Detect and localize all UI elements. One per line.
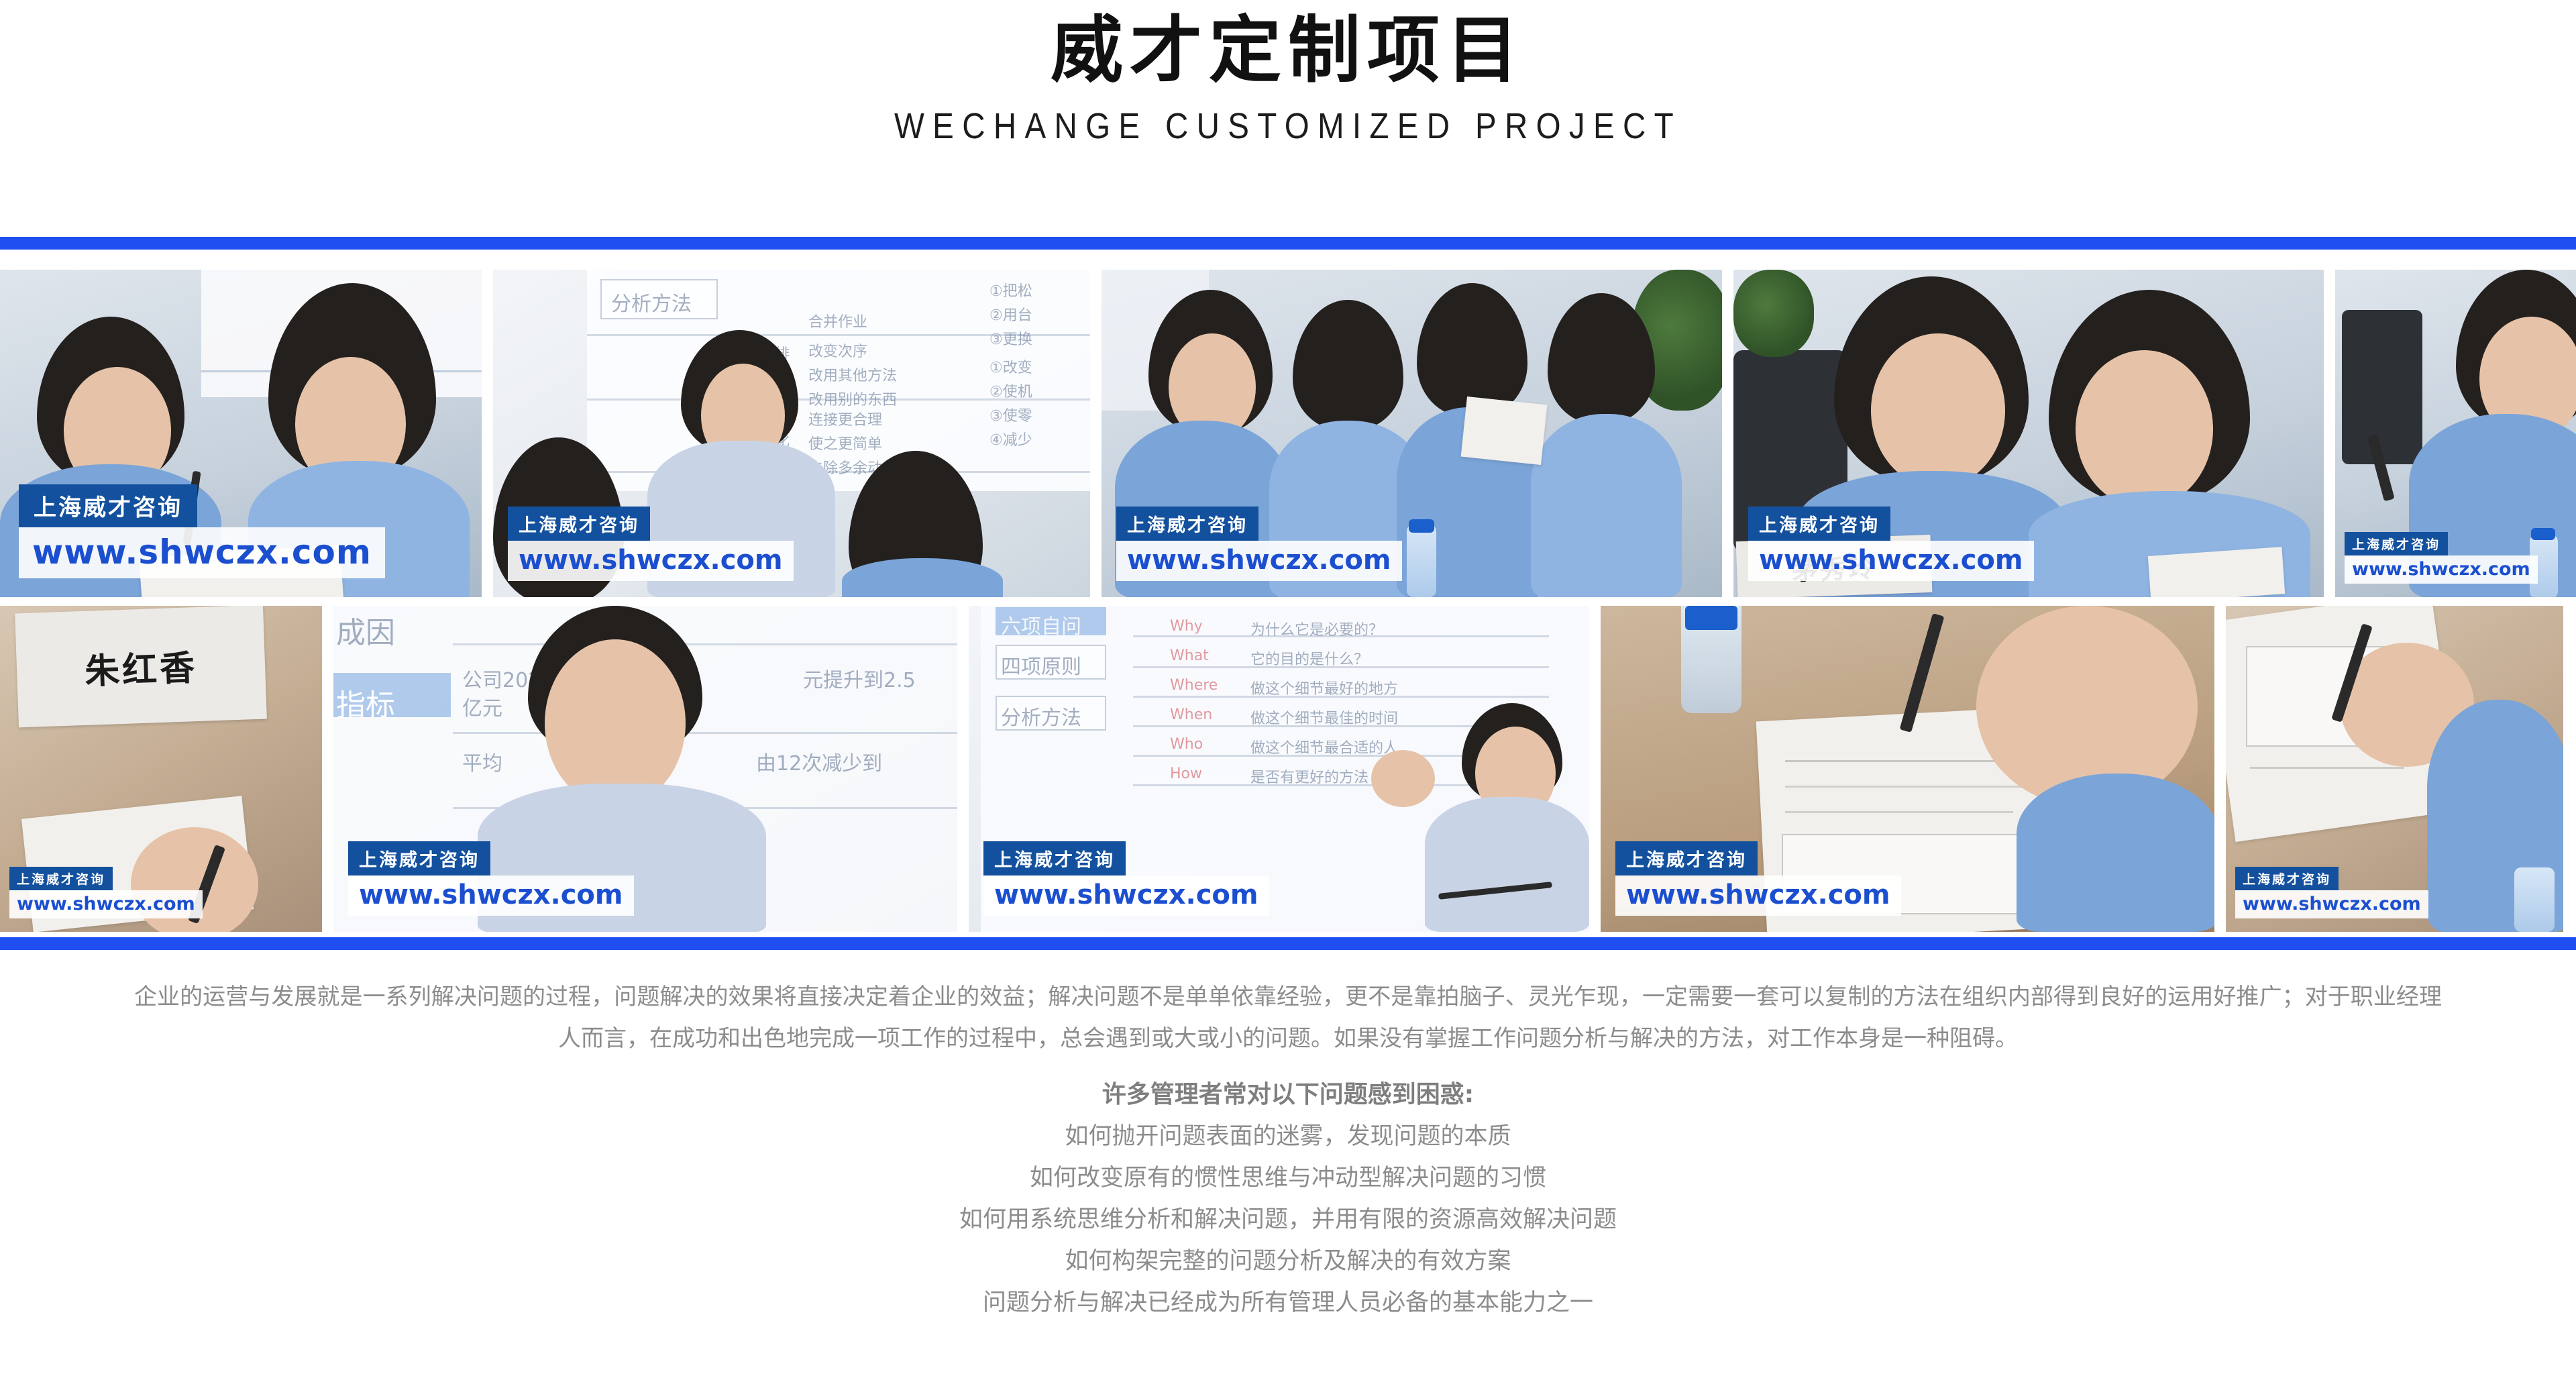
question-line-5: 问题分析与解决已经成为所有管理人员必备的基本能力之一 (0, 1282, 2576, 1324)
watermark-url: www.shwczx.com (2345, 555, 2538, 584)
gallery-photo-r2c3[interactable]: 六项自问 四项原则 分析方法 Why 为什么它是必要的？ What 它的目的是什… (969, 606, 1589, 932)
lead-line: 许多管理者常对以下问题感到困惑: (0, 1074, 2576, 1116)
gallery-photo-r1c4[interactable]: 茅秀玲 上海威才咨询 www.shwczx.com (1733, 270, 2324, 597)
slide-label-kpi-cause: 成因 (336, 608, 395, 651)
slide-5w1h-q-4: 做这个细节最佳的时间 (1250, 706, 1398, 728)
question-line-1: 如何抛开问题表面的迷雾，发现问题的本质 (0, 1116, 2576, 1157)
slide-detail-2b: 使之更简单 (808, 432, 882, 454)
slide-label-kpi-index: 指标 (336, 681, 395, 724)
watermark-r1c3: 上海威才咨询 www.shwczx.com (1116, 507, 1402, 581)
gallery-photo-r2c1[interactable]: 朱红香 上海威才咨询 www.shwczx.com (0, 606, 322, 932)
slide-item-1a: ①把松 (989, 279, 1032, 301)
gallery-photo-r1c2[interactable]: 分析方法 重排 合并作业 改变次序 改用其他方法 改用别的东西 简化 连接更合理… (493, 270, 1090, 597)
watermark-tag: 上海威才咨询 (1615, 841, 1758, 875)
divider-top (0, 237, 2576, 250)
watermark-url: www.shwczx.com (2235, 890, 2428, 918)
slide-5w1h-key-2: What (1170, 647, 1209, 664)
slide-5w1h-q-5: 做这个细节最合适的人 (1250, 736, 1398, 757)
watermark-r2c4: 上海威才咨询 www.shwczx.com (1615, 841, 1901, 916)
gallery-photo-r1c5[interactable]: 上海威才咨询 www.shwczx.com (2335, 270, 2576, 597)
watermark-tag: 上海威才咨询 (1748, 507, 1890, 541)
slide-item-2d: ④减少 (989, 428, 1032, 449)
watermark-r1c1: 上海威才咨询 www.shwczx.com (19, 484, 385, 578)
slide-item-2c: ③使零 (989, 404, 1032, 425)
poster-page: 威才定制项目 WECHANGE CUSTOMIZED PROJECT 上海威才咨… (0, 0, 2576, 1380)
slide-label-six-questions: 六项自问 (1001, 610, 1081, 639)
slide-item-2a: ①改变 (989, 356, 1032, 377)
slide-label-analysis-method: 分析方法 (611, 287, 692, 317)
watermark-url: www.shwczx.com (983, 875, 1269, 916)
page-title: 威才定制项目 (0, 12, 2576, 91)
slide-5w1h-q-1: 为什么它是必要的？ (1250, 618, 1383, 639)
gallery-photo-r1c1[interactable]: 上海威才咨询 www.shwczx.com (0, 270, 482, 597)
slide-5w1h-key-3: Where (1170, 677, 1218, 694)
intro-paragraph: 企业的运营与发展就是一系列解决问题的过程，问题解决的效果将直接决定着企业的效益；… (67, 976, 2509, 1059)
watermark-tag: 上海威才咨询 (9, 867, 113, 890)
gallery-photo-r2c5[interactable]: 上海威才咨询 www.shwczx.com (2226, 606, 2563, 932)
watermark-tag: 上海威才咨询 (19, 484, 197, 527)
slide-item-1b: ②用台 (989, 303, 1032, 325)
watermark-tag: 上海威才咨询 (1116, 507, 1258, 541)
slide-kpi-row-4: 平均 (462, 747, 502, 776)
watermark-r2c1: 上海威才咨询 www.shwczx.com (9, 867, 203, 918)
watermark-r2c5: 上海威才咨询 www.shwczx.com (2235, 867, 2428, 918)
watermark-url: www.shwczx.com (19, 527, 385, 578)
gallery-photo-r2c4[interactable]: 上海威才咨询 www.shwczx.com (1601, 606, 2214, 932)
watermark-r1c2: 上海威才咨询 www.shwczx.com (508, 507, 794, 581)
watermark-r2c3: 上海威才咨询 www.shwczx.com (983, 841, 1269, 916)
slide-detail-1b: 改用其他方法 (808, 364, 897, 385)
body-copy: 企业的运营与发展就是一系列解决问题的过程，问题解决的效果将直接决定着企业的效益；… (0, 976, 2576, 1324)
slide-detail-2a: 连接更合理 (808, 408, 882, 429)
question-line-4: 如何构架完整的问题分析及解决的有效方案 (0, 1240, 2576, 1282)
gallery-photo-r1c3[interactable]: 上海威才咨询 www.shwczx.com (1102, 270, 1722, 597)
slide-kpi-row-2: 亿元 (462, 692, 502, 721)
slide-item-2b: ②使机 (989, 380, 1032, 401)
watermark-tag: 上海威才咨询 (2235, 867, 2339, 890)
slide-label-four-principles: 四项原则 (1001, 650, 1081, 680)
page-subtitle: WECHANGE CUSTOMIZED PROJECT (154, 105, 2421, 147)
slide-5w1h-key-1: Why (1170, 618, 1203, 635)
namecard-name: 朱红香 (84, 639, 199, 694)
watermark-r1c4: 上海威才咨询 www.shwczx.com (1748, 507, 2034, 581)
watermark-tag: 上海威才咨询 (983, 841, 1126, 875)
slide-item-1c: ③更换 (989, 327, 1032, 349)
slide-kpi-row-3: 元提升到2.5 (803, 664, 916, 693)
gallery-photo-r2c2[interactable]: 成因 指标 公司2024 亿元 元提升到2.5 平均 由12次减少到 上海威才咨… (333, 606, 957, 932)
watermark-url: www.shwczx.com (508, 541, 794, 581)
watermark-url: www.shwczx.com (1748, 541, 2034, 581)
watermark-r1c5: 上海威才咨询 www.shwczx.com (2345, 532, 2538, 584)
watermark-url: www.shwczx.com (1116, 541, 1402, 581)
watermark-tag: 上海威才咨询 (508, 507, 650, 541)
watermark-r2c2: 上海威才咨询 www.shwczx.com (348, 841, 634, 916)
watermark-url: www.shwczx.com (348, 875, 634, 916)
slide-5w1h-key-5: Who (1170, 736, 1203, 753)
slide-kpi-row-5: 由12次减少到 (756, 747, 882, 776)
slide-5w1h-q-3: 做这个细节最好的地方 (1250, 677, 1398, 698)
slide-5w1h-q-2: 它的目的是什么？ (1250, 647, 1368, 669)
watermark-url: www.shwczx.com (1615, 875, 1901, 916)
divider-bottom (0, 937, 2576, 950)
slide-detail-1a: 改变次序 (808, 339, 867, 361)
slide-5w1h-key-4: When (1170, 706, 1212, 723)
question-line-3: 如何用系统思维分析和解决问题，并用有限的资源高效解决问题 (0, 1199, 2576, 1240)
watermark-url: www.shwczx.com (9, 890, 203, 918)
slide-label-analysis-method-2: 分析方法 (1001, 701, 1081, 731)
photo-row-2: 朱红香 上海威才咨询 www.shwczx.com 成因 指标 公司2024 亿… (0, 606, 2576, 932)
slide-5w1h-q-6: 是否有更好的方法 (1250, 765, 1368, 787)
photo-row-1: 上海威才咨询 www.shwczx.com 分析方法 重排 合并作业 改变次序 … (0, 270, 2576, 597)
slide-detail-1c: 改用别的东西 (808, 388, 897, 409)
watermark-tag: 上海威才咨询 (2345, 532, 2448, 555)
watermark-tag: 上海威才咨询 (348, 841, 490, 875)
slide-top-fragment: 合并作业 (808, 310, 867, 331)
slide-5w1h-key-6: How (1170, 765, 1202, 782)
namecard-r2c1: 朱红香 (15, 606, 267, 727)
page-header: 威才定制项目 WECHANGE CUSTOMIZED PROJECT (0, 0, 2576, 147)
question-line-2: 如何改变原有的惯性思维与冲动型解决问题的习惯 (0, 1157, 2576, 1199)
